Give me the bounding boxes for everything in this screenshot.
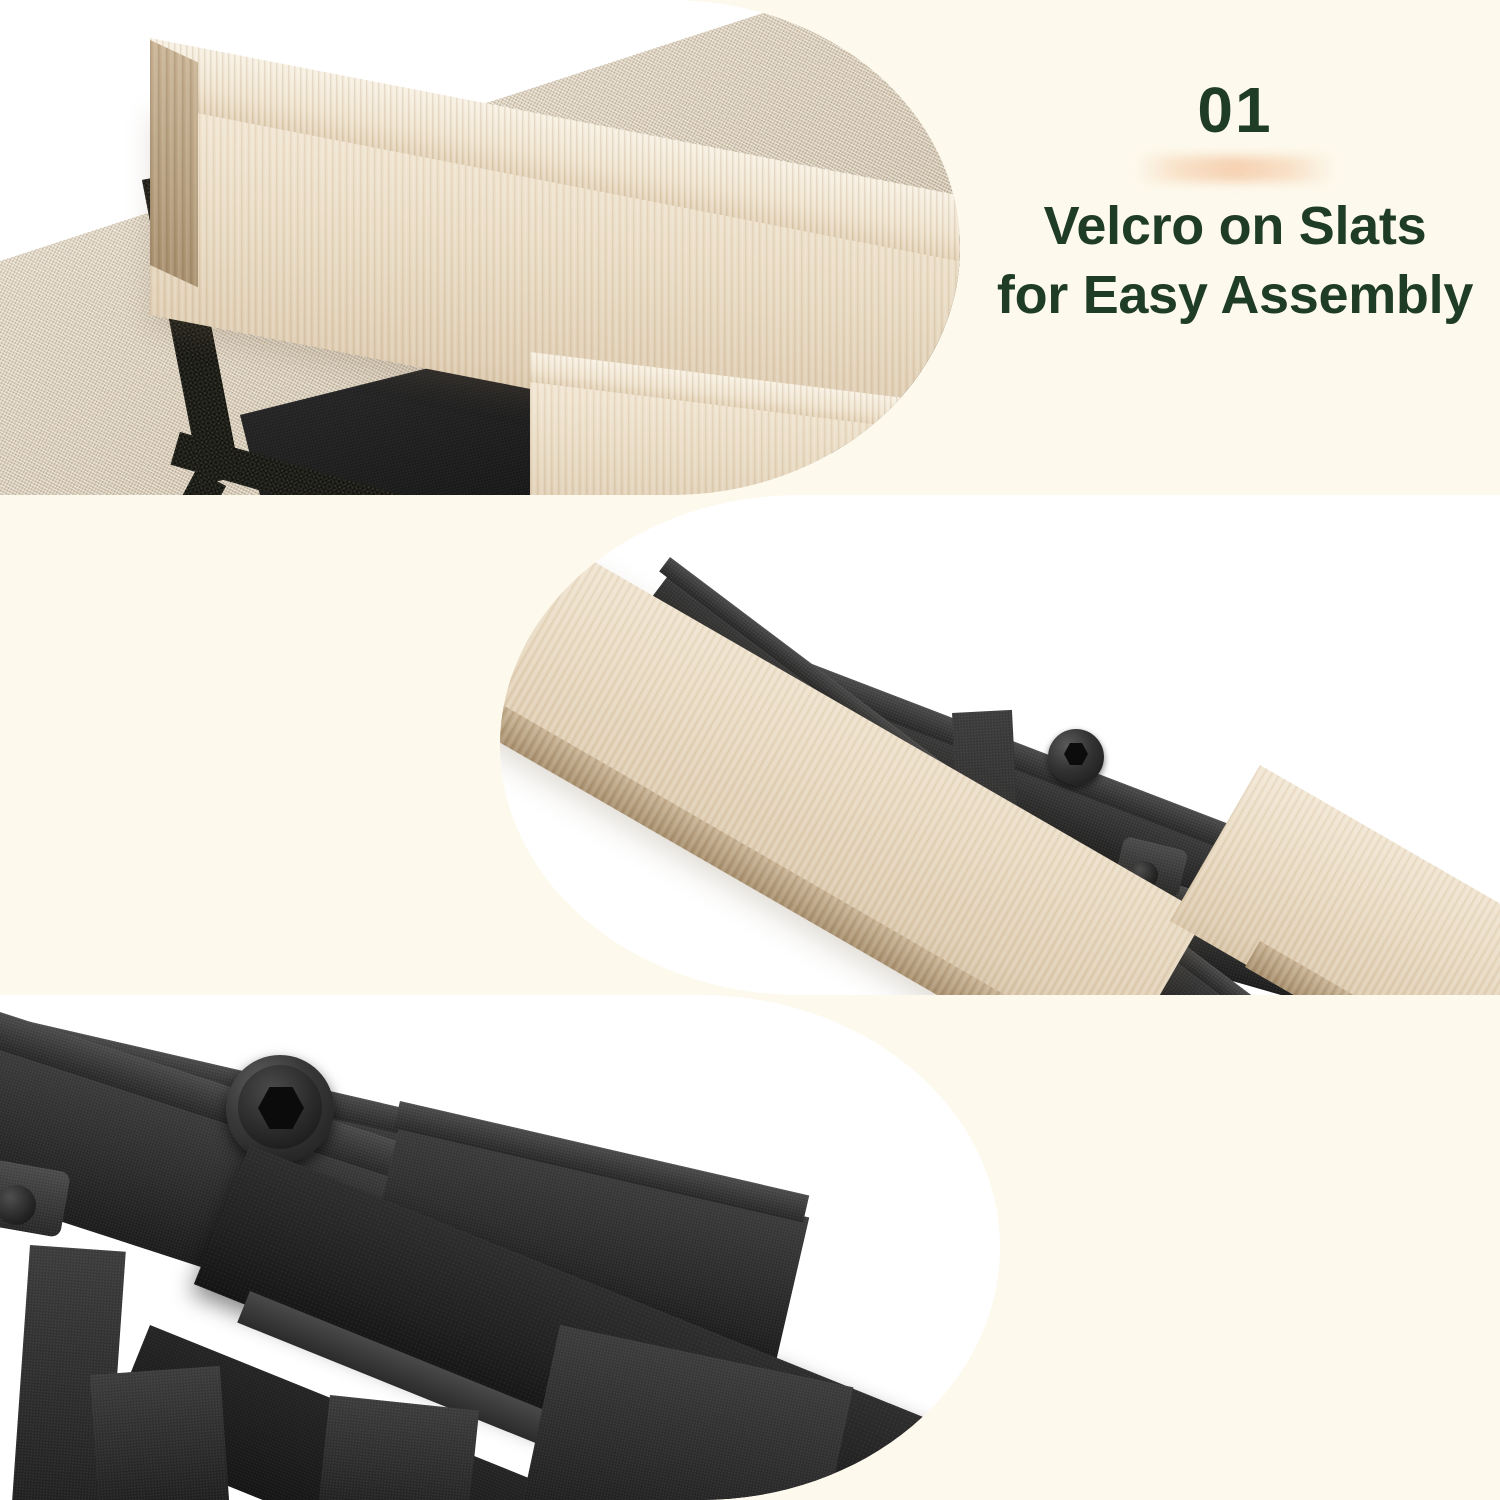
step-title-01: Velcro on Slats for Easy Assembly <box>975 192 1495 330</box>
steel-leg-bottom-b <box>316 1395 479 1500</box>
step-number-01: 01 <box>975 78 1495 142</box>
wood-slat-edge-right <box>869 428 960 495</box>
feature-panel-1: 01 Velcro on Slats for Easy Assembly <box>0 0 1500 495</box>
feature-panel-3: 03 Eva Sponge Design for Noise-free <box>0 995 1500 1500</box>
steel-leg-bottom-a <box>90 1366 230 1500</box>
feature-photo-eva-sponge <box>0 995 1000 1500</box>
product-feature-infographic: 01 Velcro on Slats for Easy Assembly 02 … <box>0 0 1500 1500</box>
feature-panel-2: 02 Solid and Sturdy Construction <box>0 495 1500 995</box>
steel-leg-bottom-c <box>518 1325 853 1500</box>
feature-photo-velcro-slats <box>0 0 960 495</box>
wood-slat-end-cap <box>150 40 198 287</box>
feature-text-1: 01 Velcro on Slats for Easy Assembly <box>975 78 1495 330</box>
step-divider-1 <box>1135 156 1335 182</box>
feature-photo-sturdy-construction <box>500 495 1500 995</box>
